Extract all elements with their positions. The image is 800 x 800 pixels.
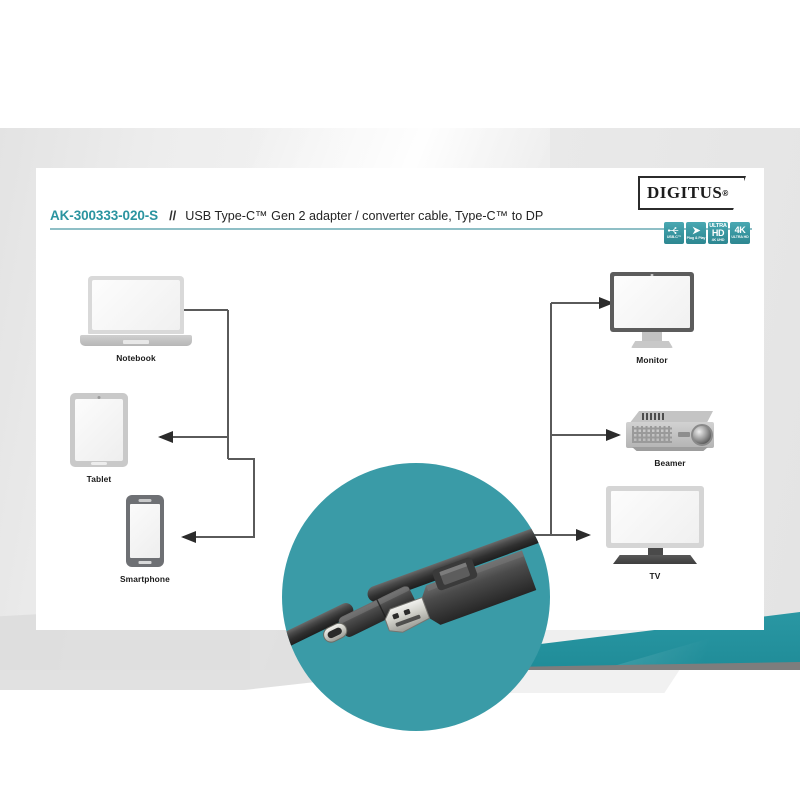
digitus-logo-text: DIGITUS bbox=[647, 183, 722, 203]
product-description: USB Type-C™ Gen 2 adapter / converter ca… bbox=[185, 209, 543, 223]
device-notebook: Notebook bbox=[80, 276, 192, 363]
4k-badge: 4K ULTRA HD bbox=[730, 222, 750, 244]
tablet-screen bbox=[75, 399, 123, 461]
beamer-vent bbox=[632, 426, 672, 443]
play-arrow-icon bbox=[690, 225, 703, 236]
cable-svg bbox=[282, 463, 550, 731]
device-tv: TV bbox=[606, 486, 704, 581]
digitus-logo: DIGITUS® bbox=[638, 176, 746, 210]
header-rule bbox=[50, 228, 752, 230]
product-diagram-page: DIGITUS® AK-300333-020-S // USB Type-C™ … bbox=[0, 0, 800, 800]
beamer-feet bbox=[632, 447, 708, 451]
smartphone-home-button bbox=[138, 561, 151, 564]
tablet-label: Tablet bbox=[87, 474, 112, 484]
ultra-hd-badge-mid: HD bbox=[712, 229, 724, 238]
usb-c-badge-label: USB-C™ bbox=[667, 235, 681, 239]
device-smartphone: Smartphone bbox=[120, 495, 170, 584]
registered-mark: ® bbox=[722, 189, 728, 198]
device-monitor: Monitor bbox=[610, 272, 694, 365]
device-tablet: Tablet bbox=[70, 393, 128, 484]
tablet-icon bbox=[70, 393, 128, 467]
tv-label: TV bbox=[650, 571, 661, 581]
notebook-trackpad bbox=[123, 340, 149, 344]
smartphone-label: Smartphone bbox=[120, 574, 170, 584]
4k-badge-mid: 4K bbox=[735, 226, 746, 235]
tv-icon bbox=[606, 486, 704, 548]
smartphone-icon bbox=[126, 495, 164, 567]
monitor-label: Monitor bbox=[636, 355, 667, 365]
tv-foot bbox=[613, 555, 697, 564]
monitor-camera bbox=[651, 274, 654, 276]
4k-badge-bottom: ULTRA HD bbox=[731, 235, 748, 239]
notebook-lid-icon bbox=[88, 276, 184, 334]
plug-and-play-badge: Plug & Play bbox=[686, 222, 706, 244]
title-bar: AK-300333-020-S // USB Type-C™ Gen 2 ada… bbox=[50, 208, 752, 223]
notebook-screen bbox=[92, 280, 180, 330]
tv-screen bbox=[611, 491, 699, 543]
tv-neck bbox=[648, 548, 663, 555]
product-card: DIGITUS® AK-300333-020-S // USB Type-C™ … bbox=[36, 168, 764, 630]
product-sku: AK-300333-020-S bbox=[50, 208, 158, 223]
smartphone-screen bbox=[130, 504, 160, 558]
ultra-hd-badge: ULTRA HD 4K UHD bbox=[708, 222, 728, 244]
monitor-icon bbox=[610, 272, 694, 332]
plug-and-play-badge-label: Plug & Play bbox=[687, 236, 706, 240]
beamer-label: Beamer bbox=[654, 458, 685, 468]
cable-illustration bbox=[282, 463, 550, 731]
monitor-neck bbox=[642, 332, 662, 341]
tablet-camera bbox=[98, 396, 101, 399]
monitor-screen bbox=[614, 276, 690, 328]
beamer-icon bbox=[622, 411, 718, 451]
beamer-lens-icon bbox=[691, 424, 713, 446]
title-separator: // bbox=[169, 208, 176, 223]
monitor-foot bbox=[631, 341, 673, 348]
tablet-home-button bbox=[91, 462, 107, 465]
ultra-hd-badge-bottom: 4K UHD bbox=[712, 238, 725, 242]
notebook-base bbox=[80, 335, 192, 346]
usb-c-badge: USB-C™ bbox=[664, 222, 684, 244]
beamer-buttons bbox=[642, 413, 664, 420]
beamer-slot bbox=[678, 432, 690, 437]
usb-trident-icon bbox=[667, 226, 681, 235]
device-beamer: Beamer bbox=[622, 411, 718, 468]
notebook-label: Notebook bbox=[116, 353, 155, 363]
feature-badges: USB-C™ Plug & Play ULTRA HD 4K UHD 4K UL… bbox=[664, 222, 750, 244]
smartphone-speaker bbox=[138, 499, 151, 502]
